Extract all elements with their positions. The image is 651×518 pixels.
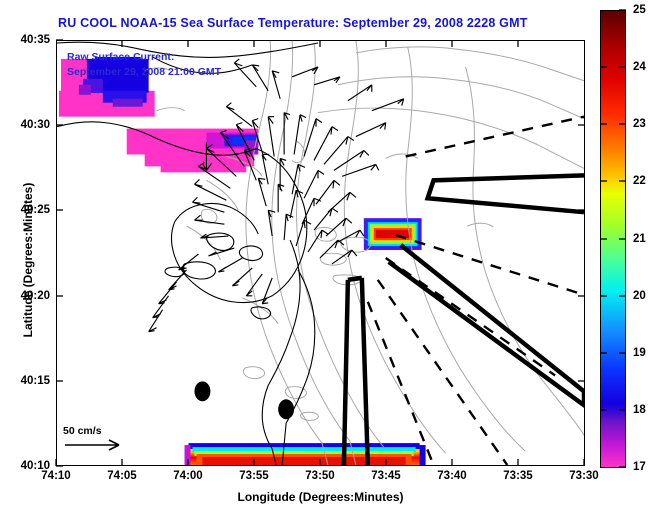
colorbar: [600, 10, 626, 468]
x-tick-label: 73:45: [371, 470, 400, 482]
x-tick-label: 73:50: [305, 470, 334, 482]
y-tick-label: 40:15: [21, 375, 50, 387]
colorbar-tick-label: 19: [633, 347, 646, 359]
station-marker-layer[interactable]: [57, 41, 584, 465]
y-tick-label: 40:35: [21, 34, 50, 46]
station-marker[interactable]: [194, 381, 210, 401]
scale-bar-label: 50 cm/s: [63, 425, 127, 437]
sst-map-figure: RU COOL NOAA-15 Sea Surface Temperature:…: [0, 0, 651, 518]
x-tick-label: 74:05: [107, 470, 136, 482]
scale-bar: 50 cm/s: [63, 425, 127, 457]
colorbar-tick-label: 23: [633, 118, 646, 130]
x-tick-label: 73:55: [239, 470, 268, 482]
y-axis-title: Latitude (Degrees:Minutes): [21, 150, 35, 370]
y-tick-label: 40:30: [21, 119, 50, 131]
colorbar-gradient: [601, 11, 625, 467]
colorbar-tick-label: 22: [633, 175, 646, 187]
current-annotation-line2: September 29, 2008 21:00 GMT: [67, 66, 221, 78]
colorbar-tick-label: 25: [633, 4, 646, 16]
station-marker[interactable]: [278, 399, 294, 419]
arrow-right-icon: [63, 438, 127, 452]
map-canvas: Raw Surface Current: September 29, 2008 …: [57, 41, 584, 465]
colorbar-tick-label: 18: [633, 404, 646, 416]
x-tick-label: 74:00: [173, 470, 202, 482]
colorbar-tick-label: 20: [633, 290, 646, 302]
x-tick-label: 73:40: [437, 470, 466, 482]
current-annotation-line1: Raw Surface Current:: [67, 51, 174, 63]
colorbar-tick-label: 24: [633, 61, 646, 73]
colorbar-tick-label: 17: [633, 461, 646, 473]
page-title: RU COOL NOAA-15 Sea Surface Temperature:…: [58, 16, 578, 30]
x-tick-label: 73:30: [569, 470, 598, 482]
colorbar-tick-label: 21: [633, 233, 646, 245]
y-tick-label: 40:10: [21, 460, 50, 472]
x-axis-title: Longitude (Degrees:Minutes): [56, 490, 585, 504]
x-tick-label: 73:35: [503, 470, 532, 482]
map-plot-area[interactable]: Raw Surface Current: September 29, 2008 …: [56, 40, 585, 466]
